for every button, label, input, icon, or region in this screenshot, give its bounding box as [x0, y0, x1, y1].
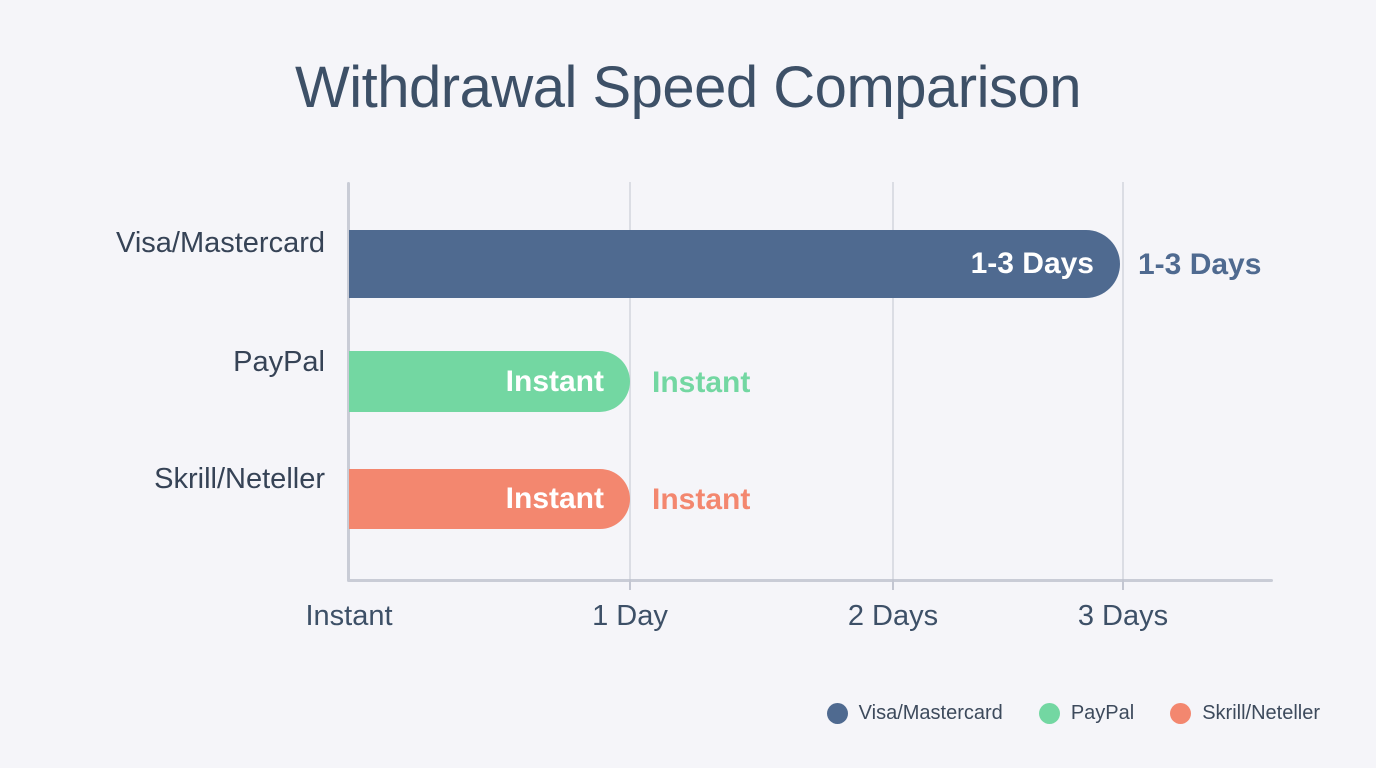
legend-label-visa-mastercard: Visa/Mastercard — [859, 702, 1003, 725]
legend-item-paypal[interactable]: PayPal — [1039, 702, 1134, 725]
category-axis-labels: Visa/Mastercard PayPal Skrill/Neteller — [0, 182, 325, 581]
tick-mark-3-days — [1122, 579, 1124, 590]
chart-container: Withdrawal Speed Comparison Visa/Masterc… — [0, 0, 1376, 768]
bar-outer-label-skrill-neteller: Instant — [652, 483, 750, 517]
legend-swatch-icon-visa-mastercard — [827, 703, 848, 724]
x-axis-line — [347, 579, 1273, 582]
xtick-label-3-days: 3 Days — [1078, 600, 1168, 633]
legend-swatch-icon-paypal — [1039, 703, 1060, 724]
bar-value-label-paypal: Instant — [506, 365, 604, 399]
bar-visa-mastercard[interactable]: 1-3 Days — [349, 230, 1120, 298]
bar-outer-label-paypal: Instant — [652, 366, 750, 400]
xtick-label-1-day: 1 Day — [592, 600, 668, 633]
tick-mark-2-days — [892, 579, 894, 590]
bar-paypal[interactable]: Instant — [349, 351, 630, 412]
plot-area: 1-3 Days 1-3 Days Instant Instant Instan… — [349, 182, 1273, 581]
bar-value-label-skrill-neteller: Instant — [506, 482, 604, 516]
legend-swatch-icon-skrill-neteller — [1170, 703, 1191, 724]
chart-title: Withdrawal Speed Comparison — [0, 56, 1376, 120]
category-label-paypal: PayPal — [233, 346, 325, 379]
category-label-visa-mastercard: Visa/Mastercard — [116, 227, 325, 260]
gridline-3-days — [1122, 182, 1124, 581]
legend-label-paypal: PayPal — [1071, 702, 1134, 725]
category-label-skrill-neteller: Skrill/Neteller — [154, 463, 325, 496]
legend-item-skrill-neteller[interactable]: Skrill/Neteller — [1170, 702, 1320, 725]
bar-skrill-neteller[interactable]: Instant — [349, 469, 630, 529]
legend-item-visa-mastercard[interactable]: Visa/Mastercard — [827, 702, 1003, 725]
bar-outer-label-visa-mastercard: 1-3 Days — [1138, 248, 1261, 282]
legend-label-skrill-neteller: Skrill/Neteller — [1202, 702, 1320, 725]
bar-value-label-visa-mastercard: 1-3 Days — [971, 247, 1094, 281]
chart-legend: Visa/Mastercard PayPal Skrill/Neteller — [0, 702, 1376, 725]
xtick-label-instant: Instant — [305, 600, 392, 633]
tick-mark-1-day — [629, 579, 631, 590]
xtick-label-2-days: 2 Days — [848, 600, 938, 633]
